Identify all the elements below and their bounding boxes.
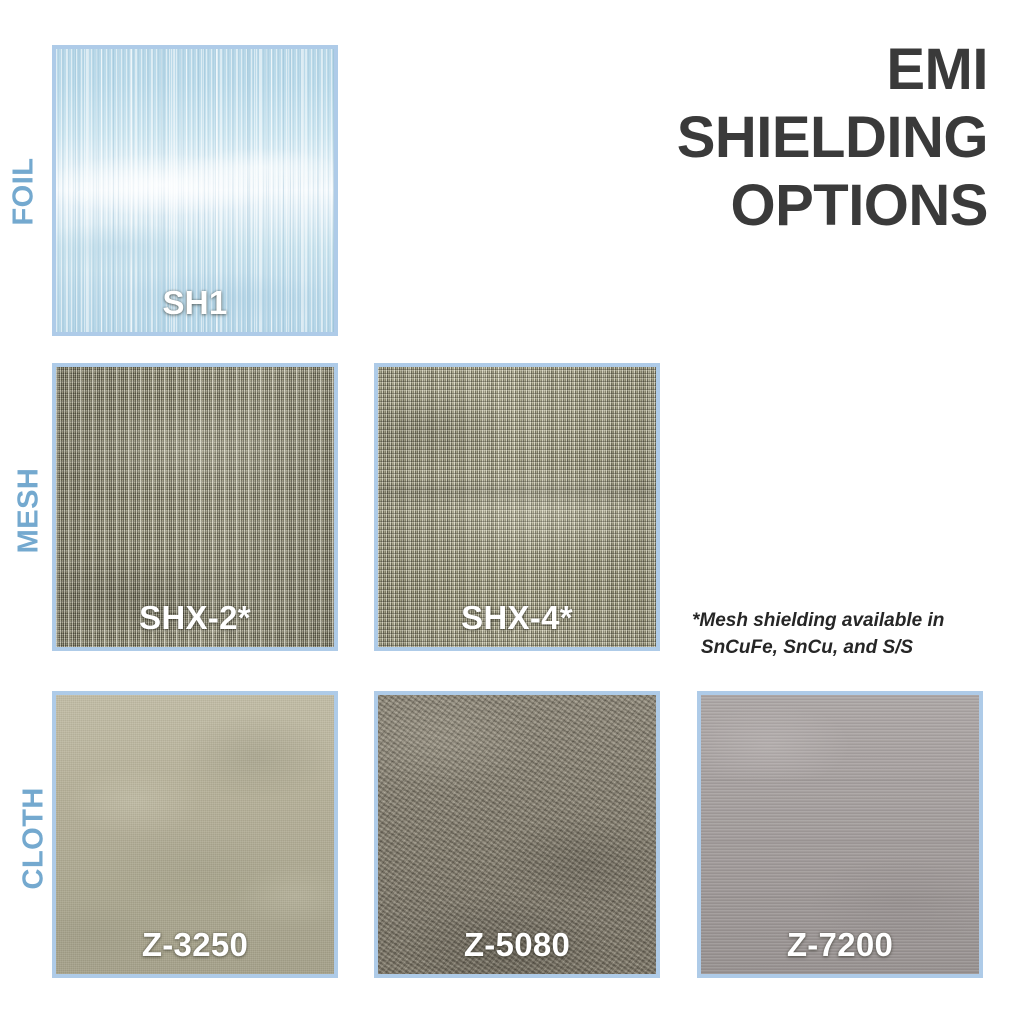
swatch-sh1[interactable]: SH1 (52, 45, 338, 336)
page-title-line-3: OPTIONS (518, 172, 988, 240)
swatch-shx-4[interactable]: SHX-4* (374, 363, 660, 651)
swatch-label-z-3250: Z-3250 (56, 926, 334, 964)
swatch-label-z-7200: Z-7200 (701, 926, 979, 964)
page-title-line-1: EMI (518, 36, 988, 104)
swatch-label-shx-4: SHX-4* (378, 599, 656, 637)
swatch-label-sh1: SH1 (56, 284, 334, 322)
swatch-z-7200[interactable]: Z-7200 (697, 691, 983, 978)
row-label-cloth: CLOTH (18, 790, 51, 890)
page-title-line-2: SHIELDING (518, 104, 988, 172)
row-label-foil: FOIL (8, 142, 41, 242)
page-title: EMI SHIELDING OPTIONS (518, 36, 988, 240)
swatch-shx-2[interactable]: SHX-2* (52, 363, 338, 651)
swatch-label-z-5080: Z-5080 (378, 926, 656, 964)
emi-shielding-options-poster: EMI SHIELDING OPTIONS FOIL MESH CLOTH SH… (0, 0, 1024, 1024)
mesh-footnote: *Mesh shielding available in SnCuFe, SnC… (692, 608, 922, 662)
swatch-label-shx-2: SHX-2* (56, 599, 334, 637)
swatch-z-5080[interactable]: Z-5080 (374, 691, 660, 978)
swatch-z-3250[interactable]: Z-3250 (52, 691, 338, 978)
mesh-footnote-line-2: SnCuFe, SnCu, and S/S (692, 635, 922, 662)
mesh-footnote-line-1: *Mesh shielding available in (692, 608, 922, 635)
row-label-mesh: MESH (13, 461, 46, 561)
